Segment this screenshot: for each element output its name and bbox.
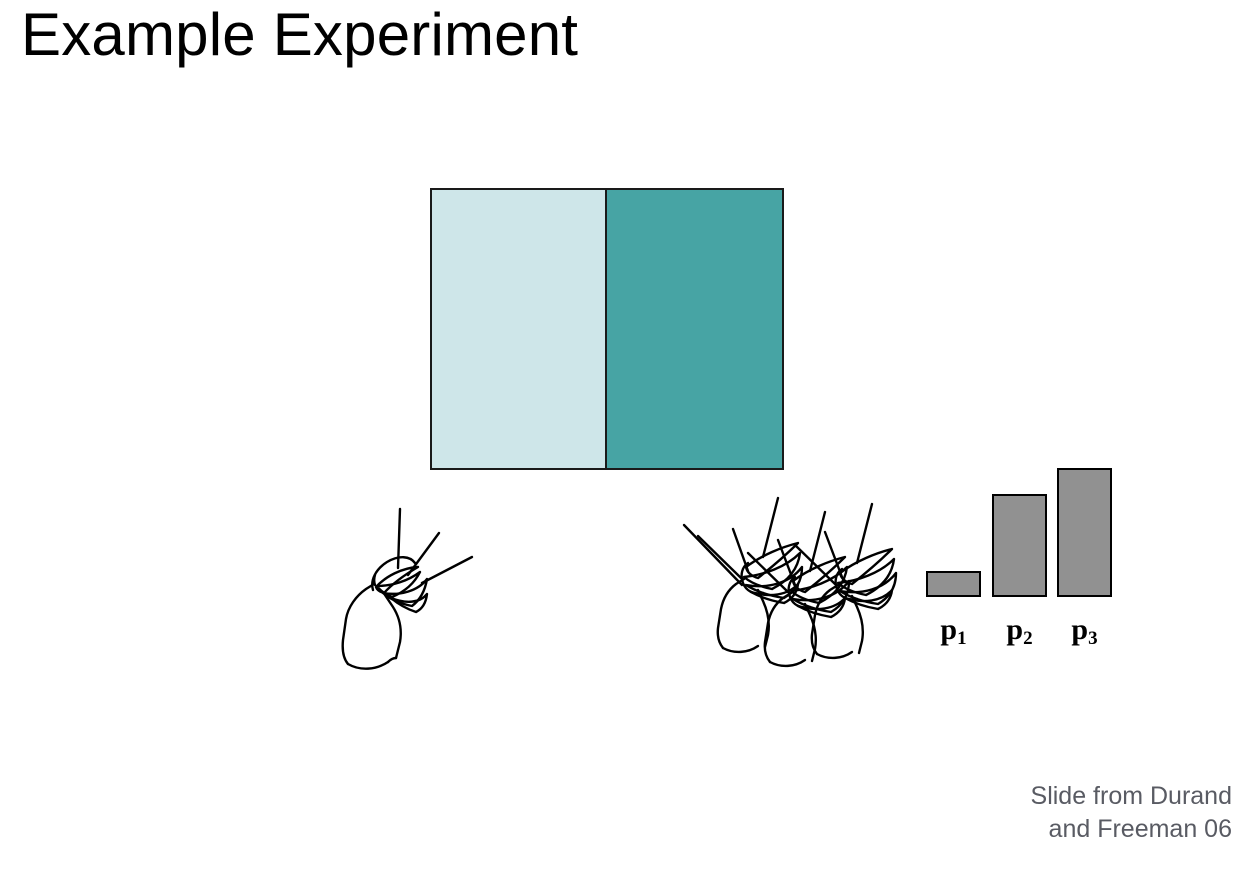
attribution-credit: Slide from Durand and Freeman 06 — [812, 780, 1232, 846]
bar-label-p2-subscript: 2 — [1023, 628, 1033, 649]
stimulus-left-half — [432, 190, 607, 468]
bar-label-p1-subscript: 1 — [957, 628, 967, 649]
camera-sketch-icon-3 — [795, 504, 896, 658]
bar-p1 — [926, 571, 981, 597]
probability-bar-chart: p1 p2 p3 — [920, 455, 1095, 655]
camera-sketch-icon-1 — [684, 498, 802, 652]
bar-label-p3-subscript: 3 — [1088, 628, 1098, 649]
attribution-line-2: and Freeman 06 — [812, 813, 1232, 846]
bar-p3 — [1057, 468, 1112, 597]
bar-label-p1: p1 — [926, 613, 981, 647]
bar-p2 — [992, 494, 1047, 597]
camera-array-sketch-icon — [670, 485, 930, 675]
attribution-line-1: Slide from Durand — [812, 780, 1232, 813]
stimulus-right-half — [607, 190, 782, 468]
camera-sketch-icon — [330, 490, 500, 680]
two-tone-stimulus-patch — [430, 188, 784, 470]
slide-canvas: Example Experiment — [0, 0, 1254, 876]
page-title: Example Experiment — [21, 2, 578, 68]
bar-label-p2: p2 — [992, 613, 1047, 647]
bar-label-p3: p3 — [1057, 613, 1112, 647]
